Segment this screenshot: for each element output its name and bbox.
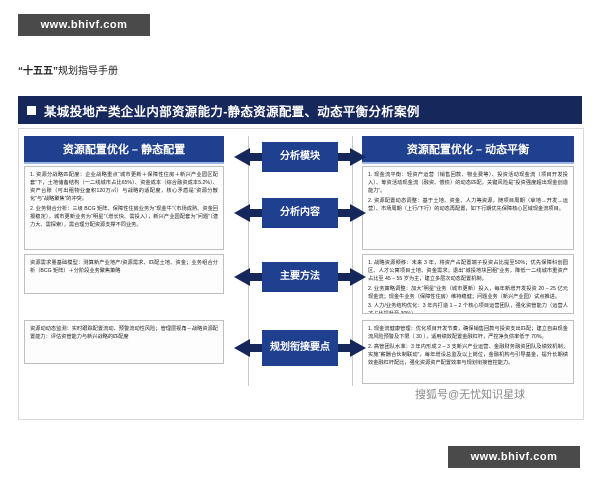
center-label-2: 分析内容 bbox=[262, 198, 338, 228]
center-label-2-text: 分析内容 bbox=[280, 207, 320, 219]
arrow-left-3-bar bbox=[250, 273, 262, 281]
arrow-left-4-bar bbox=[250, 344, 262, 352]
right-box-1-line-1: 1. 现金流平衡：轻资产运营（销售回款、物业费等）、投资活动现金流（项目开发投入… bbox=[368, 171, 568, 195]
center-label-1-text: 分析模块 bbox=[280, 151, 320, 163]
right-box-2-line-2: 2. 业务策略调整：加大“明星”业务（城市更新）投入，每年新增开发投资 20 –… bbox=[368, 285, 568, 301]
left-box-1-line-2: 2. 业务侧合分析：三级 BCG 矩阵、保障性住房业务为“现金牛”（市场成熟、资… bbox=[30, 205, 218, 229]
right-box-1: 1. 现金流平衡：轻资产运营（销售回款、物业费等）、投资活动现金流（项目开发投入… bbox=[362, 166, 574, 250]
right-box-2: 1. 战略资源频移：未来 3 年，将资产占配置端子投资占比提至50%；优先保障科… bbox=[362, 254, 574, 314]
arrow-right-3-bar bbox=[338, 273, 350, 281]
arrow-right-2-bar bbox=[338, 209, 350, 217]
author-credit: 搜狐号@无忧知识星球 bbox=[415, 386, 525, 402]
right-box-2-line-1: 1. 战略资源频移：未来 3 年，将资产占配置端子投资占比提至50%；优先保障科… bbox=[368, 259, 568, 283]
center-label-4-text: 规划衔接要点 bbox=[270, 342, 330, 354]
left-box-3: 资源动动态监测：实时跟踪配置流动、预警流动性风险；管理层视角－战略资源配置能力：… bbox=[24, 320, 224, 364]
arrow-right-2-icon bbox=[350, 204, 366, 222]
column-header-left-label: 资源配置优化 – 静态配置 bbox=[63, 141, 185, 157]
document-kicker: “十五五”规划指导手册 bbox=[18, 62, 118, 77]
author-credit-text: 搜狐号@无忧知识星球 bbox=[415, 389, 525, 401]
column-header-right-label: 资源配置优化 – 动态平衡 bbox=[407, 141, 529, 157]
document-kicker-quoted: “十五五” bbox=[18, 66, 58, 77]
left-box-1: 1. 资源分战略匹配度：企业战略重点“城市更新＋保障性住房＋新兴产业园区配套”下… bbox=[24, 166, 224, 250]
center-label-4: 规划衔接要点 bbox=[262, 330, 338, 366]
right-box-2-line-3: 3. 人力/业务结构优化：3 年内打造 1 – 2 个核心项目运营团队，强化资管… bbox=[368, 302, 568, 314]
arrow-right-4-icon bbox=[350, 339, 366, 357]
page-title-bar: 某城投地产类企业内部资源能力-静态资源配置、动态平衡分析案例 bbox=[18, 96, 582, 124]
arrow-left-3-icon bbox=[234, 268, 250, 286]
arrow-right-4-bar bbox=[338, 344, 350, 352]
watermark-bottom: www.bhivf.com bbox=[448, 446, 580, 468]
arrow-right-3-icon bbox=[350, 268, 366, 286]
watermark-bottom-text: www.bhivf.com bbox=[471, 451, 558, 463]
center-label-1: 分析模块 bbox=[262, 142, 338, 172]
left-box-2: 资源需求量基础模型：测算新产业地产/资源需求、匹配土地、资金；业务组合分析（BC… bbox=[24, 254, 224, 294]
arrow-left-4-icon bbox=[234, 339, 250, 357]
column-header-right: 资源配置优化 – 动态平衡 bbox=[362, 136, 574, 164]
watermark-top: www.bhivf.com bbox=[18, 14, 150, 36]
arrow-left-1-bar bbox=[250, 153, 262, 161]
right-box-3-line-1: 1. 现金流健康管理：优化项目开发节奏，确保销售回款与投资支出匹配；建立自由现金… bbox=[368, 325, 568, 341]
arrow-left-2-icon bbox=[234, 204, 250, 222]
arrow-left-2-bar bbox=[250, 209, 262, 217]
right-box-1-line-2: 2. 资源配置动态调整：基于土地、资金、人力等资源，随项目周期（拿地→开发→运营… bbox=[368, 197, 568, 213]
arrow-right-1-bar bbox=[338, 153, 350, 161]
left-box-2-line-1: 资源需求量基础模型：测算新产业地产/资源需求、匹配土地、资金；业务组合分析（BC… bbox=[30, 259, 218, 275]
arrow-right-1-icon bbox=[350, 148, 366, 166]
page-title: 某城投地产类企业内部资源能力-静态资源配置、动态平衡分析案例 bbox=[44, 101, 420, 120]
left-box-3-line-1: 资源动动态监测：实时跟踪配置流动、预警流动性风险；管理层视角－战略资源配置能力：… bbox=[30, 325, 218, 341]
arrow-left-1-icon bbox=[234, 148, 250, 166]
left-box-1-line-1: 1. 资源分战略匹配度：企业战略重点“城市更新＋保障性住房＋新兴产业园区配套”下… bbox=[30, 171, 218, 203]
watermark-top-text: www.bhivf.com bbox=[41, 19, 128, 31]
right-box-3: 1. 现金流健康管理：优化项目开发节奏，确保销售回款与投资支出匹配；建立自由现金… bbox=[362, 320, 574, 384]
right-box-3-line-2: 2. 高管团队水准：3 年内形成 2 – 3 支新兴产业运营、金融财务融资团队及… bbox=[368, 343, 568, 367]
title-bullet-square bbox=[27, 106, 36, 115]
document-kicker-rest: 规划指导手册 bbox=[58, 66, 118, 77]
center-label-3: 主要方法 bbox=[262, 262, 338, 292]
column-header-left: 资源配置优化 – 静态配置 bbox=[24, 136, 224, 164]
center-label-3-text: 主要方法 bbox=[280, 271, 320, 283]
